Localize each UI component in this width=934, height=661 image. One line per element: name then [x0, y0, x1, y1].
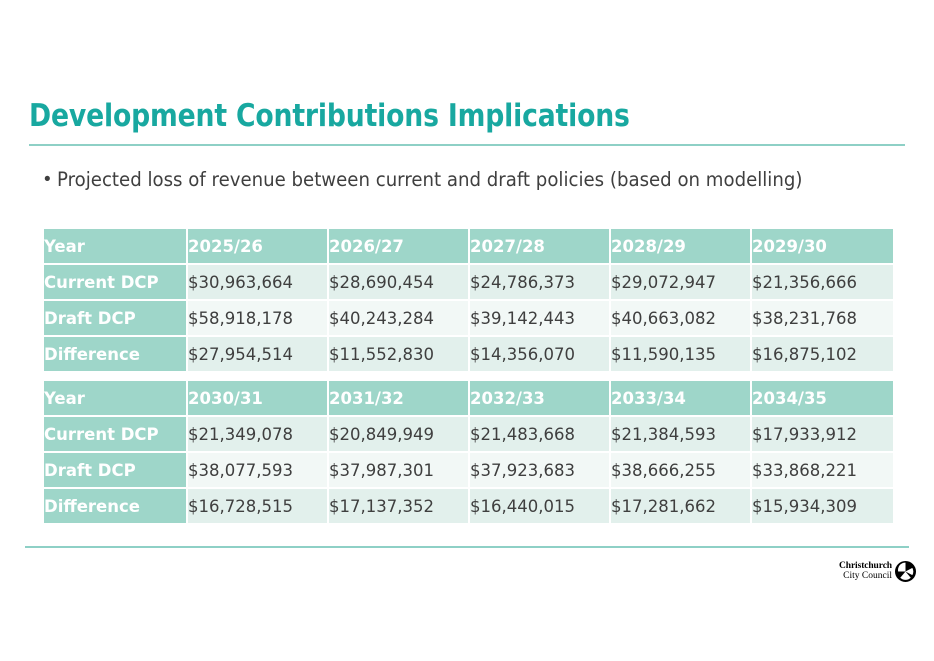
- page-title: Development Contributions Implications: [29, 98, 630, 134]
- logo-line-1: Christchurch: [839, 561, 892, 571]
- logo-wordmark: Christchurch City Council: [839, 561, 892, 581]
- table-cell: $20,849,949: [329, 417, 470, 453]
- column-header-year-3: 2032/33: [470, 381, 611, 417]
- table-cell: $24,786,373: [470, 265, 611, 301]
- column-header-year: Year: [44, 229, 188, 265]
- table-row: Difference $27,954,514 $11,552,830 $14,3…: [44, 337, 893, 371]
- table-cell: $29,072,947: [611, 265, 752, 301]
- table-cell: $28,690,454: [329, 265, 470, 301]
- column-header-year-3: 2027/28: [470, 229, 611, 265]
- table-cell: $15,934,309: [752, 489, 893, 523]
- table-cell: $16,728,515: [188, 489, 329, 523]
- table-cell: $58,918,178: [188, 301, 329, 337]
- column-header-year-2: 2031/32: [329, 381, 470, 417]
- table-cell: $38,077,593: [188, 453, 329, 489]
- table-cell: $17,137,352: [329, 489, 470, 523]
- table-row: Draft DCP $58,918,178 $40,243,284 $39,14…: [44, 301, 893, 337]
- table-cell: $11,552,830: [329, 337, 470, 371]
- bullet-text: Projected loss of revenue between curren…: [57, 166, 808, 193]
- table-cell: $21,384,593: [611, 417, 752, 453]
- table-cell: $17,281,662: [611, 489, 752, 523]
- table-cell: $21,356,666: [752, 265, 893, 301]
- table-header-row: Year 2025/26 2026/27 2027/28 2028/29 202…: [44, 229, 893, 265]
- table-header-row: Year 2030/31 2031/32 2032/33 2033/34 203…: [44, 381, 893, 417]
- row-label-difference: Difference: [44, 337, 188, 371]
- bullet-marker-icon: •: [44, 166, 57, 193]
- table-cell: $21,349,078: [188, 417, 329, 453]
- list-item: • Projected loss of revenue between curr…: [44, 166, 864, 193]
- logo-line-2: City Council: [839, 571, 892, 581]
- table-cell: $40,663,082: [611, 301, 752, 337]
- table-row: Draft DCP $38,077,593 $37,987,301 $37,92…: [44, 453, 893, 489]
- table-row: Difference $16,728,515 $17,137,352 $16,4…: [44, 489, 893, 523]
- table-cell: $38,231,768: [752, 301, 893, 337]
- row-label-current-dcp: Current DCP: [44, 265, 188, 301]
- column-header-year: Year: [44, 381, 188, 417]
- row-label-draft-dcp: Draft DCP: [44, 453, 188, 489]
- title-divider: [29, 144, 905, 146]
- table-cell: $30,963,664: [188, 265, 329, 301]
- column-header-year-1: 2025/26: [188, 229, 329, 265]
- bullet-list: • Projected loss of revenue between curr…: [44, 166, 864, 193]
- row-label-current-dcp: Current DCP: [44, 417, 188, 453]
- table-cell: $37,987,301: [329, 453, 470, 489]
- table-cell: $40,243,284: [329, 301, 470, 337]
- column-header-year-1: 2030/31: [188, 381, 329, 417]
- table-cell: $21,483,668: [470, 417, 611, 453]
- column-header-year-5: 2029/30: [752, 229, 893, 265]
- row-label-draft-dcp: Draft DCP: [44, 301, 188, 337]
- table-row: Current DCP $21,349,078 $20,849,949 $21,…: [44, 417, 893, 453]
- column-header-year-4: 2033/34: [611, 381, 752, 417]
- christchurch-city-council-logo: Christchurch City Council: [820, 556, 916, 586]
- dcp-table-years-2025-2030: Year 2025/26 2026/27 2027/28 2028/29 202…: [44, 229, 893, 371]
- dcp-table-years-2030-2035: Year 2030/31 2031/32 2032/33 2033/34 203…: [44, 381, 893, 523]
- table-cell: $27,954,514: [188, 337, 329, 371]
- table-row: Current DCP $30,963,664 $28,690,454 $24,…: [44, 265, 893, 301]
- column-header-year-4: 2028/29: [611, 229, 752, 265]
- row-label-difference: Difference: [44, 489, 188, 523]
- table-cell: $39,142,443: [470, 301, 611, 337]
- table-cell: $16,440,015: [470, 489, 611, 523]
- table-cell: $38,666,255: [611, 453, 752, 489]
- table-cell: $16,875,102: [752, 337, 893, 371]
- slide-canvas: Development Contributions Implications •…: [0, 0, 934, 661]
- footer-divider: [25, 546, 909, 548]
- table-cell: $33,868,221: [752, 453, 893, 489]
- table-cell: $11,590,135: [611, 337, 752, 371]
- column-header-year-2: 2026/27: [329, 229, 470, 265]
- table-cell: $37,923,683: [470, 453, 611, 489]
- column-header-year-5: 2034/35: [752, 381, 893, 417]
- table-cell: $17,933,912: [752, 417, 893, 453]
- table-cell: $14,356,070: [470, 337, 611, 371]
- council-emblem-icon: [895, 561, 916, 582]
